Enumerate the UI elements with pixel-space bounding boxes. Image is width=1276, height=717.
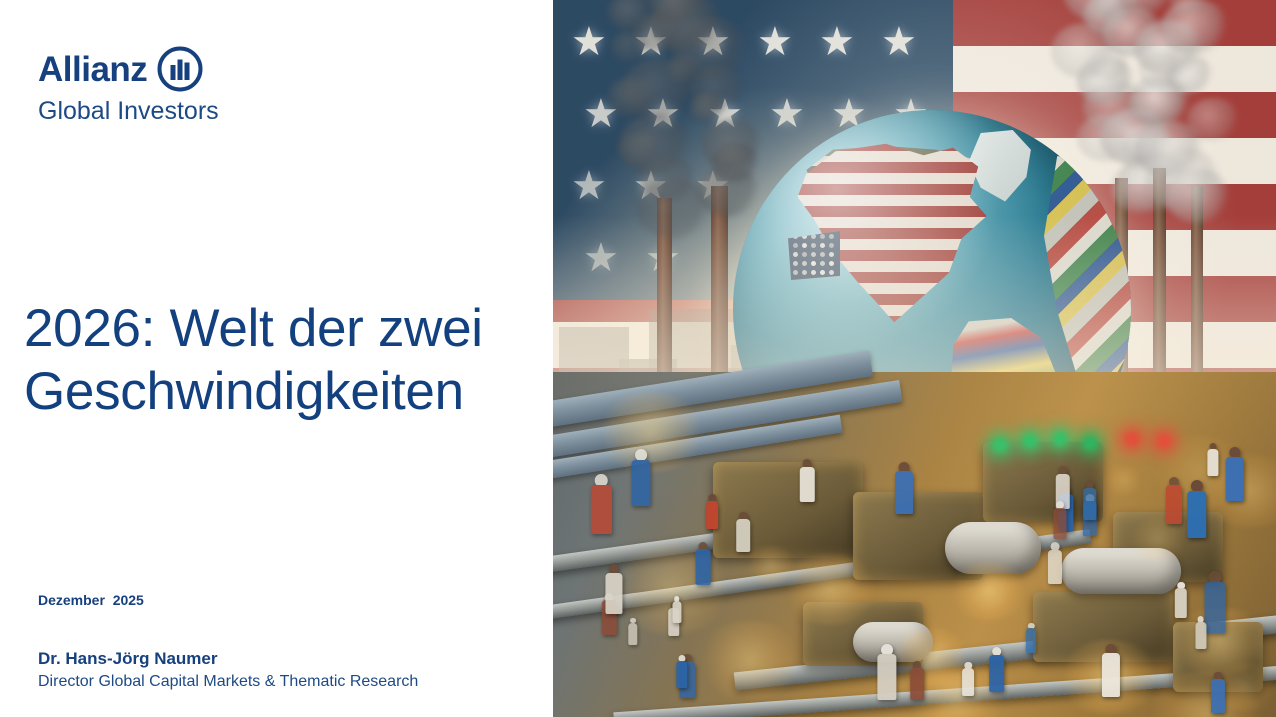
worker-body (706, 501, 718, 529)
worker-body (1054, 508, 1067, 539)
factory-worker (1211, 672, 1225, 713)
worker-body (737, 519, 751, 552)
indicator-lamp (1157, 434, 1171, 448)
author-role: Director Global Capital Markets & Themat… (38, 671, 418, 693)
worker-body (1187, 491, 1207, 538)
worker-body (989, 655, 1005, 693)
worker-body (877, 654, 896, 700)
factory-worker (877, 644, 896, 701)
factory-worker (672, 596, 681, 623)
worker-body (1175, 588, 1187, 618)
worker-body (910, 668, 924, 701)
factory-worker (1166, 477, 1182, 524)
worker-body (631, 460, 650, 506)
worker-body (696, 549, 711, 585)
factory-worker (1195, 616, 1206, 648)
worker-body (1026, 628, 1036, 653)
worker-body (800, 467, 814, 502)
factory-light-glow (695, 621, 805, 698)
brand-name: Allianz (38, 52, 147, 87)
indicator-lamp (993, 438, 1007, 452)
factory-worker (696, 542, 711, 585)
factory-worker (1026, 623, 1036, 653)
brand-subtitle: Global Investors (38, 98, 268, 126)
factory-light-glow (780, 554, 881, 625)
worker-body (628, 623, 637, 646)
indicator-lamp (1083, 436, 1097, 450)
factory-worker (1083, 481, 1096, 520)
worker-body (1048, 550, 1062, 584)
worker-body (895, 471, 913, 514)
indicator-lamp (1053, 432, 1067, 446)
factory-worker (910, 661, 924, 701)
author-name: Dr. Hans-Jörg Naumer (38, 648, 418, 671)
page-title: 2026: Welt der zwei Geschwindigkeiten (24, 298, 664, 423)
factory-worker (605, 564, 622, 614)
factory-floor (553, 372, 1276, 717)
factory-worker (676, 655, 687, 688)
factory-worker (706, 494, 718, 529)
author-block: Dr. Hans-Jörg Naumer Director Global Cap… (38, 648, 418, 693)
factory-worker (1204, 571, 1225, 633)
allianz-bars-circle-icon (157, 46, 203, 92)
publication-date: Dezember 2025 (38, 592, 144, 608)
worker-body (1195, 622, 1206, 649)
worker-body (1102, 653, 1120, 697)
factory-worker (591, 474, 611, 534)
slide: ★★★★★★★★★★★★★★★★★ Allianz (0, 0, 1276, 717)
factory-worker (895, 462, 913, 514)
worker-body (1166, 485, 1182, 524)
factory-worker (1102, 644, 1120, 697)
factory-worker (737, 512, 751, 552)
machinery (713, 462, 863, 558)
worker-body (1207, 449, 1218, 476)
worker-body (676, 661, 687, 688)
worker-body (1204, 582, 1225, 633)
factory-light-glow (1102, 466, 1144, 496)
factory-worker (1207, 443, 1218, 476)
worker-body (1083, 488, 1096, 520)
worker-body (605, 573, 622, 614)
factory-worker (962, 662, 974, 697)
factory-worker (1054, 501, 1067, 539)
allianz-global-investors-logo: Allianz Global Investors (38, 46, 268, 126)
worker-body (962, 668, 974, 697)
indicator-lamp (1023, 434, 1037, 448)
factory-worker (800, 459, 814, 502)
worker-body (672, 601, 681, 623)
factory-worker (989, 647, 1005, 693)
worker-body (591, 485, 611, 534)
worker-body (1225, 457, 1243, 502)
factory-worker (1048, 542, 1062, 584)
factory-worker (1187, 480, 1207, 537)
factory-worker (628, 618, 637, 646)
indicator-lamp (1125, 432, 1139, 446)
factory-worker (1175, 582, 1187, 619)
worker-body (1211, 679, 1225, 713)
factory-worker (1225, 447, 1243, 501)
factory-worker (631, 449, 650, 505)
factory-light-glow (947, 562, 1030, 620)
